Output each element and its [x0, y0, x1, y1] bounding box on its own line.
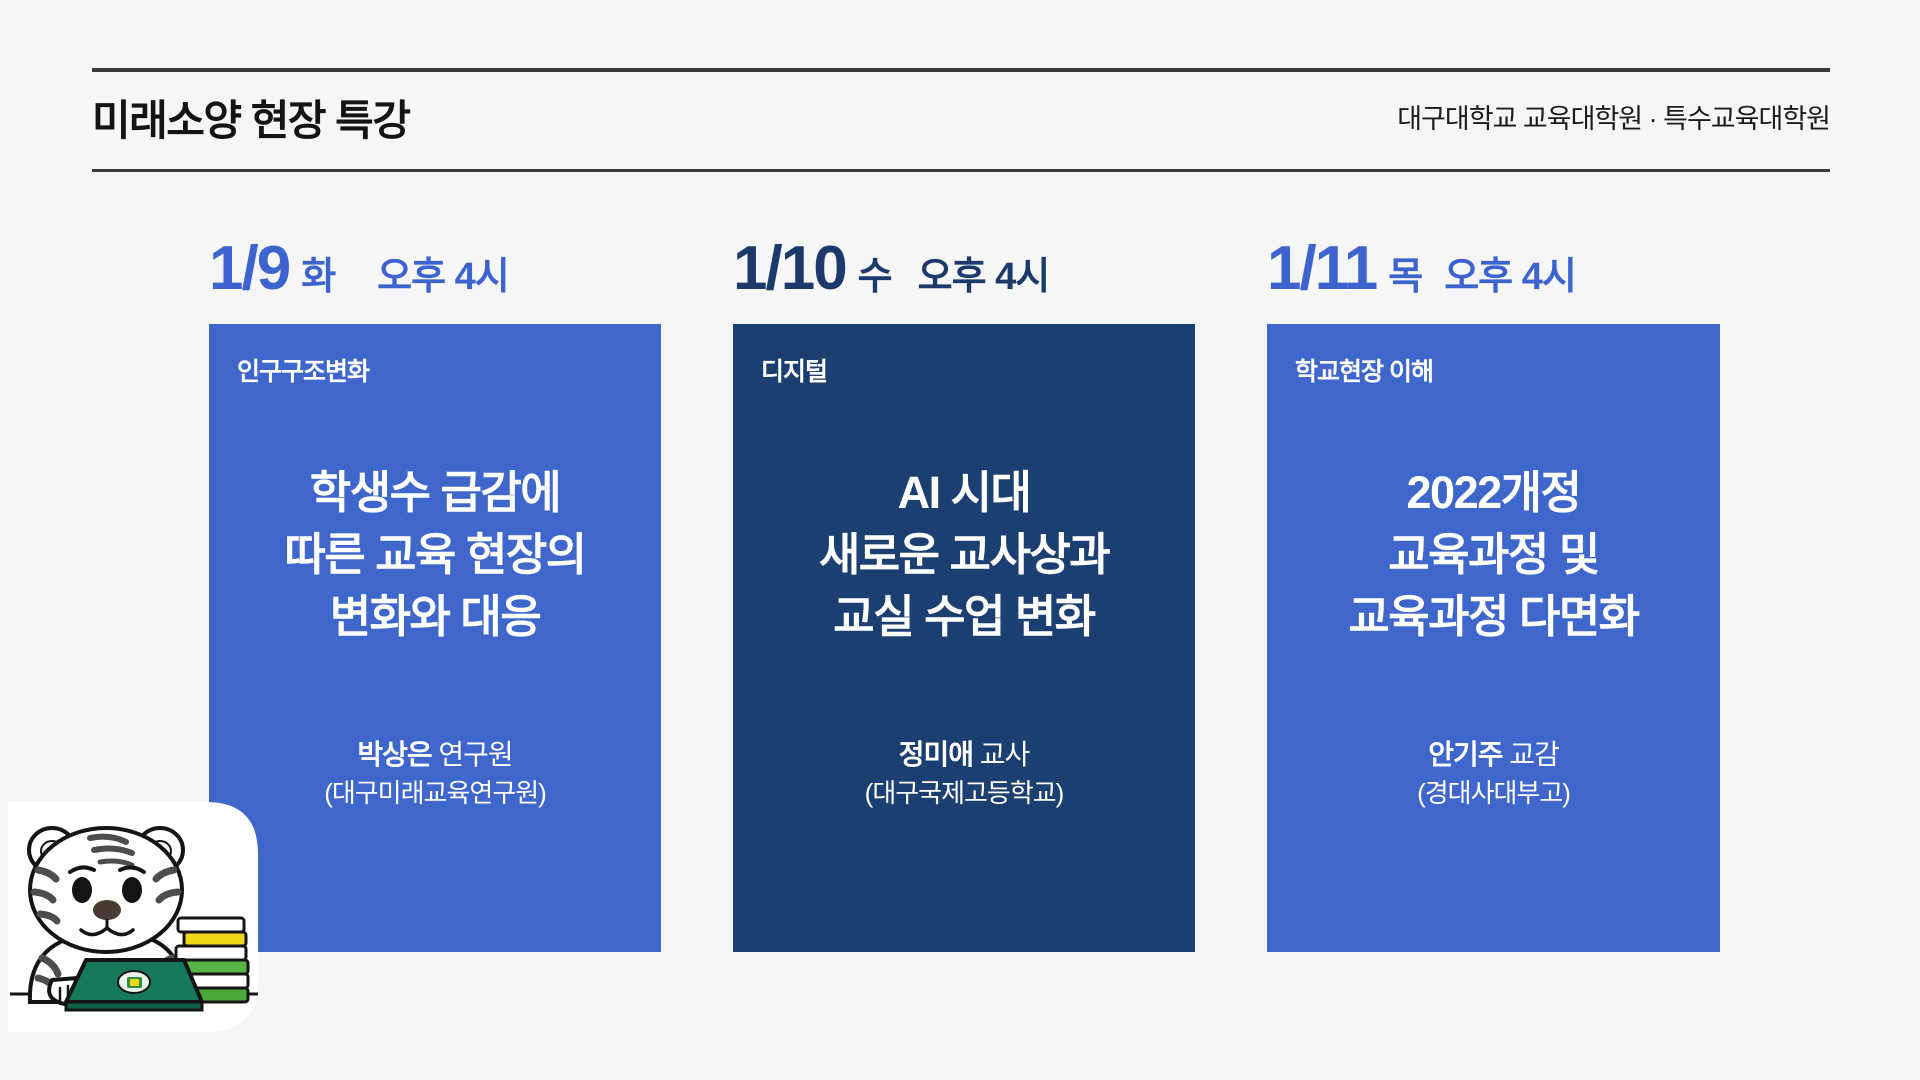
session-card-1[interactable]: 인구구조변화 학생수 급감에 따른 교육 현장의 변화와 대응 박상은 연구원 … — [209, 324, 661, 952]
white-tiger-mascot-icon — [8, 802, 258, 1032]
speaker-affiliation: (대구미래교육연구원) — [237, 775, 633, 812]
session-title-line: 교육과정 및 — [1295, 524, 1692, 586]
session-speaker-2: 정미애 교사 (대구국제고등학교) — [761, 735, 1167, 952]
poster-header: 미래소양 현장 특강 대구대학교 교육대학원 · 특수교육대학원 — [92, 68, 1830, 172]
session-title-line: 학생수 급감에 — [237, 462, 633, 524]
speaker-row: 안기주 교감 — [1295, 735, 1692, 775]
session-weekday-2: 수 — [858, 258, 892, 296]
speaker-affiliation: (대구국제고등학교) — [761, 775, 1167, 812]
session-title-line: 2022개정 — [1295, 462, 1692, 524]
session-date-line-2: 1/10 수 오후 4시 — [733, 238, 1195, 300]
session-title-line: 교실 수업 변화 — [761, 586, 1167, 648]
session-weekday-1: 화 — [301, 258, 335, 296]
speaker-row: 정미애 교사 — [761, 735, 1167, 775]
speaker-role: 교감 — [1509, 739, 1559, 770]
session-time-3: 오후 4시 — [1444, 258, 1576, 296]
session-date-1: 1/9 — [209, 238, 289, 300]
session-column-3: 1/11 목 오후 4시 학교현장 이해 2022개정 교육과정 및 교육과정 … — [1267, 238, 1720, 952]
session-card-2[interactable]: 디지털 AI 시대 새로운 교사상과 교실 수업 변화 정미애 교사 (대구국제… — [733, 324, 1195, 952]
session-title-2: AI 시대 새로운 교사상과 교실 수업 변화 — [761, 462, 1167, 658]
session-title-line: 따른 교육 현장의 — [237, 524, 633, 586]
session-time-1: 오후 4시 — [377, 258, 509, 296]
session-column-1: 1/9 화 오후 4시 인구구조변화 학생수 급감에 따른 교육 현장의 변화와… — [209, 238, 661, 952]
session-columns: 1/9 화 오후 4시 인구구조변화 학생수 급감에 따른 교육 현장의 변화와… — [0, 238, 1920, 952]
session-title-1: 학생수 급감에 따른 교육 현장의 변화와 대응 — [237, 462, 633, 658]
session-title-line: 교육과정 다면화 — [1295, 586, 1692, 648]
speaker-row: 박상은 연구원 — [237, 735, 633, 775]
session-tag-2: 디지털 — [761, 360, 827, 385]
session-tag-1: 인구구조변화 — [237, 360, 369, 385]
session-title-3: 2022개정 교육과정 및 교육과정 다면화 — [1295, 462, 1692, 658]
session-tag-3: 학교현장 이해 — [1295, 360, 1433, 385]
speaker-affiliation: (경대사대부고) — [1295, 775, 1692, 812]
session-date-2: 1/10 — [733, 238, 846, 300]
session-time-2: 오후 4시 — [918, 258, 1050, 296]
session-title-line: 새로운 교사상과 — [761, 524, 1167, 586]
session-speaker-1: 박상은 연구원 (대구미래교육연구원) — [237, 735, 633, 952]
speaker-role: 연구원 — [438, 739, 512, 770]
session-speaker-3: 안기주 교감 (경대사대부고) — [1295, 735, 1692, 952]
session-card-3[interactable]: 학교현장 이해 2022개정 교육과정 및 교육과정 다면화 안기주 교감 (경… — [1267, 324, 1720, 952]
session-date-3: 1/11 — [1267, 238, 1376, 300]
session-title-line: 변화와 대응 — [237, 586, 633, 648]
speaker-name: 박상은 — [357, 739, 431, 770]
speaker-name: 안기주 — [1428, 739, 1502, 770]
organization-label: 대구대학교 교육대학원 · 특수교육대학원 — [1397, 106, 1830, 135]
poster-canvas: 미래소양 현장 특강 대구대학교 교육대학원 · 특수교육대학원 1/9 화 오… — [0, 0, 1920, 1080]
speaker-role: 교사 — [980, 739, 1030, 770]
page-title: 미래소양 현장 특강 — [92, 100, 409, 142]
speaker-name: 정미애 — [899, 739, 973, 770]
session-weekday-3: 목 — [1388, 258, 1422, 296]
session-date-line-1: 1/9 화 오후 4시 — [209, 238, 661, 300]
session-column-2: 1/10 수 오후 4시 디지털 AI 시대 새로운 교사상과 교실 수업 변화… — [733, 238, 1195, 952]
session-date-line-3: 1/11 목 오후 4시 — [1267, 238, 1720, 300]
session-title-line: AI 시대 — [761, 462, 1167, 524]
